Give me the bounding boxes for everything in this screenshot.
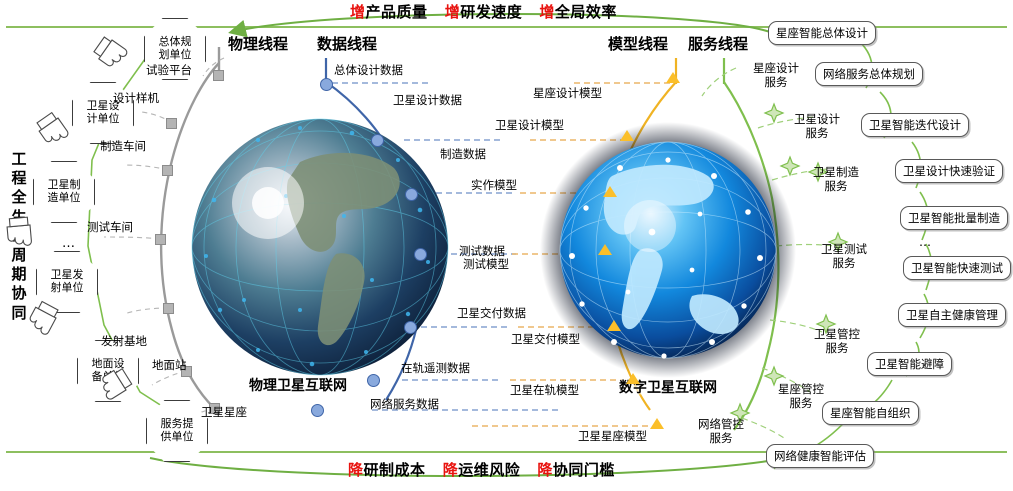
model-label-0: 星座设计模型 [533,85,602,101]
physical-label-4: 发射基地 [101,333,147,349]
model-marker-1[interactable] [620,130,634,141]
service-label-4: 卫星管控服务 [804,328,870,356]
physical-globe-label: 物理卫星互联网 [249,375,347,395]
data-label-0: 总体设计数据 [334,62,403,78]
data-marker-2[interactable] [405,188,418,201]
org-node-3[interactable]: 卫星发射单位 [36,251,98,313]
banner-top-1-hi: 增 [445,3,461,21]
model-marker-0[interactable] [666,72,680,83]
banner-bottom-1-rest: 运维风险 [458,461,520,479]
vertical-title-chars: 工程全生命周期协同 [8,150,30,323]
physical-label-5: 地面站 [152,357,187,373]
banner-bottom-2-rest: 协同门槛 [553,461,615,479]
banner-bottom-0-hi: 降 [348,461,364,479]
banner-top-0-hi: 增 [350,3,366,21]
model-label-3: 测试模型 [463,256,509,272]
data-marker-6[interactable] [311,404,324,417]
model-marker-5[interactable] [626,373,640,384]
model-label-4: 卫星交付模型 [511,331,580,347]
org-node-2[interactable]: 卫星制造单位 [33,161,95,223]
capability-box-9[interactable]: 网络健康智能评估 [766,444,874,468]
data-marker-5[interactable] [367,374,380,387]
capability-box-2[interactable]: 卫星智能迭代设计 [861,113,969,137]
model-marker-6[interactable] [650,418,664,429]
capability-box-0[interactable]: 星座智能总体设计 [768,21,876,45]
data-label-5: 在轨遥测数据 [401,360,470,376]
model-label-1: 卫星设计模型 [495,117,564,133]
diagram-canvas: 工程全生命周期协同 增产品质量 增研发速度 增全局效率 降研制成本 降运维风险 … [0,0,1013,491]
physical-label-0: 试验平台 [146,62,192,78]
model-label-2: 实作模型 [471,177,517,193]
capability-box-1[interactable]: 网络服务总体规划 [815,62,923,86]
service-label-2: 卫星制造服务 [803,166,869,194]
page-title: 工程全生命周期协同 [8,150,30,323]
physical-label-2: 制造车间 [100,138,146,154]
physical-marker-2[interactable] [162,165,173,176]
data-label-4: 卫星交付数据 [457,305,526,321]
data-marker-0[interactable] [320,78,333,91]
banner-bottom-1-hi: 降 [443,461,459,479]
data-label-2: 制造数据 [440,146,486,162]
banner-bottom-0-rest: 研制成本 [364,461,426,479]
thread-header-physical: 物理线程 [228,36,288,53]
thread-header-model: 模型线程 [608,36,668,53]
org-node-4[interactable]: 地面设备单位 [77,340,139,402]
capability-box-5[interactable]: 卫星智能快速测试 [903,256,1011,280]
capability-box-3[interactable]: 卫星设计快速验证 [895,159,1003,183]
thread-header-service: 服务线程 [688,36,748,53]
model-label-5: 卫星在轨模型 [510,382,579,398]
org-node-5[interactable]: 服务提供单位 [146,400,208,462]
benefit-banner-bottom: 降研制成本 降运维风险 降协同门槛 [348,462,615,479]
service-label-1: 卫星设计服务 [784,113,850,141]
model-marker-3[interactable] [598,244,612,255]
physical-label-6: 卫星星座 [201,404,247,420]
capability-box-4[interactable]: 卫星智能批量制造 [900,206,1008,230]
data-label-6: 网络服务数据 [370,396,439,412]
service-label-0: 星座设计服务 [740,62,812,90]
model-marker-4[interactable] [607,320,621,331]
service-label-6: 网络管控服务 [688,418,754,446]
data-label-1: 卫星设计数据 [393,92,462,108]
capability-box-6[interactable]: 卫星自主健康管理 [898,303,1006,327]
banner-top-2-rest: 全局效率 [555,3,617,21]
thread-header-data: 数据线程 [317,36,377,53]
data-marker-4[interactable] [404,321,417,334]
capability-ellipsis: … [919,236,931,249]
physical-globe-art [192,119,448,375]
banner-bottom-2-hi: 降 [537,461,553,479]
benefit-banner-top: 增产品质量 增研发速度 增全局效率 [350,4,617,21]
service-label-3: 卫星测试服务 [811,243,877,271]
banner-top-2-hi: 增 [539,3,555,21]
banner-top-1-rest: 研发速度 [460,3,522,21]
data-marker-3[interactable] [414,248,427,261]
physical-marker-4[interactable] [163,303,174,314]
capability-box-8[interactable]: 星座智能自组织 [822,401,919,425]
banner-top-0-rest: 产品质量 [366,3,428,21]
data-marker-1[interactable] [371,134,384,147]
physical-label-3: 测试车间 [87,219,133,235]
physical-marker-3[interactable] [155,234,166,245]
physical-marker-1[interactable] [166,118,177,129]
capability-box-7[interactable]: 卫星智能避障 [867,352,952,376]
physical-label-1: 设计样机 [113,90,159,106]
model-label-6: 卫星星座模型 [578,428,647,444]
model-marker-2[interactable] [603,186,617,197]
physical-marker-0[interactable] [213,70,224,81]
org-chain-ellipsis: … [62,237,75,252]
